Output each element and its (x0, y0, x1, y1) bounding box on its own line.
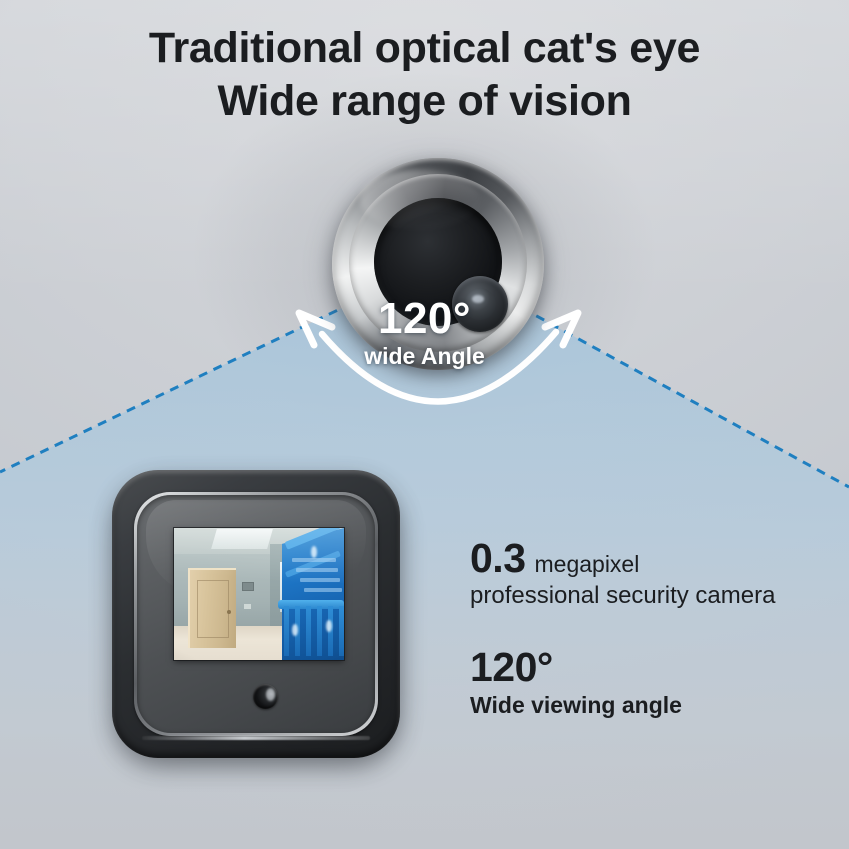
device-power-button[interactable] (253, 684, 278, 709)
scene-door-knob (227, 610, 231, 614)
scene-step (296, 568, 338, 572)
title-line-1: Traditional optical cat's eye (149, 24, 700, 72)
peephole-dark-barrel (374, 198, 502, 326)
scene-skylight (211, 529, 273, 549)
spec-headline: 0.3 megapixel (470, 536, 810, 580)
product-infographic-poster: Traditional optical cat's eye Wide range… (0, 0, 849, 849)
spec-item-megapixel: 0.3 megapixel professional security came… (470, 536, 810, 611)
scene-step (304, 588, 342, 592)
button-glint (266, 688, 275, 701)
scene-step (300, 578, 340, 582)
scene-highlight (311, 546, 317, 558)
spec-value: 0.3 (470, 536, 526, 580)
spec-description: Wide viewing angle (470, 690, 810, 720)
scene-wall-outlet (244, 604, 251, 609)
spec-description: professional security camera (470, 581, 810, 611)
scene-step (292, 558, 336, 562)
peephole-lens-housing (452, 276, 508, 332)
digital-door-viewer (112, 470, 400, 758)
page-title: Traditional optical cat's eye Wide range… (0, 22, 849, 128)
scene-light-switch (242, 582, 254, 591)
spec-item-viewing-angle: 120° Wide viewing angle (470, 645, 810, 720)
device-bottom-highlight (142, 736, 370, 740)
spec-list: 0.3 megapixel professional security came… (470, 536, 810, 754)
title-line-2: Wide range of vision (0, 75, 849, 128)
arrowhead-left-icon (299, 313, 332, 345)
spec-value: 120° (470, 645, 553, 689)
device-screen[interactable] (174, 528, 344, 660)
scene-highlight (326, 620, 332, 632)
peephole-device (332, 158, 544, 370)
scene-baluster (284, 606, 289, 656)
arrowhead-right-icon (545, 313, 578, 345)
lens-glint (472, 295, 484, 303)
scene-wooden-door (188, 568, 236, 648)
scene-door-panel (197, 580, 229, 638)
spec-unit: megapixel (535, 551, 640, 577)
scene-baluster (306, 606, 311, 656)
spec-headline: 120° (470, 645, 810, 689)
peephole-lens-glass (464, 288, 496, 320)
scene-highlight (292, 624, 298, 636)
scene-baluster (339, 606, 344, 656)
scene-baluster (317, 606, 322, 656)
